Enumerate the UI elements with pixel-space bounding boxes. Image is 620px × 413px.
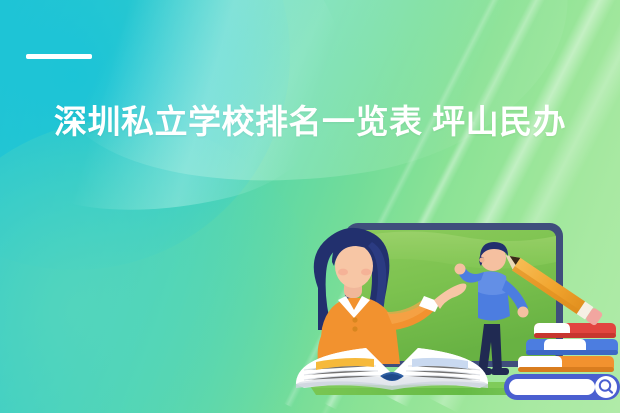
teal-glow-decoration — [0, 120, 330, 413]
page-title: 深圳私立学校排名一览表 坪山民办 — [54, 100, 574, 144]
education-learning-illustration — [288, 196, 620, 413]
accent-dash — [26, 54, 92, 59]
banner: 深圳私立学校排名一览表 坪山民办 — [0, 0, 620, 413]
search-bar[interactable] — [504, 374, 620, 400]
